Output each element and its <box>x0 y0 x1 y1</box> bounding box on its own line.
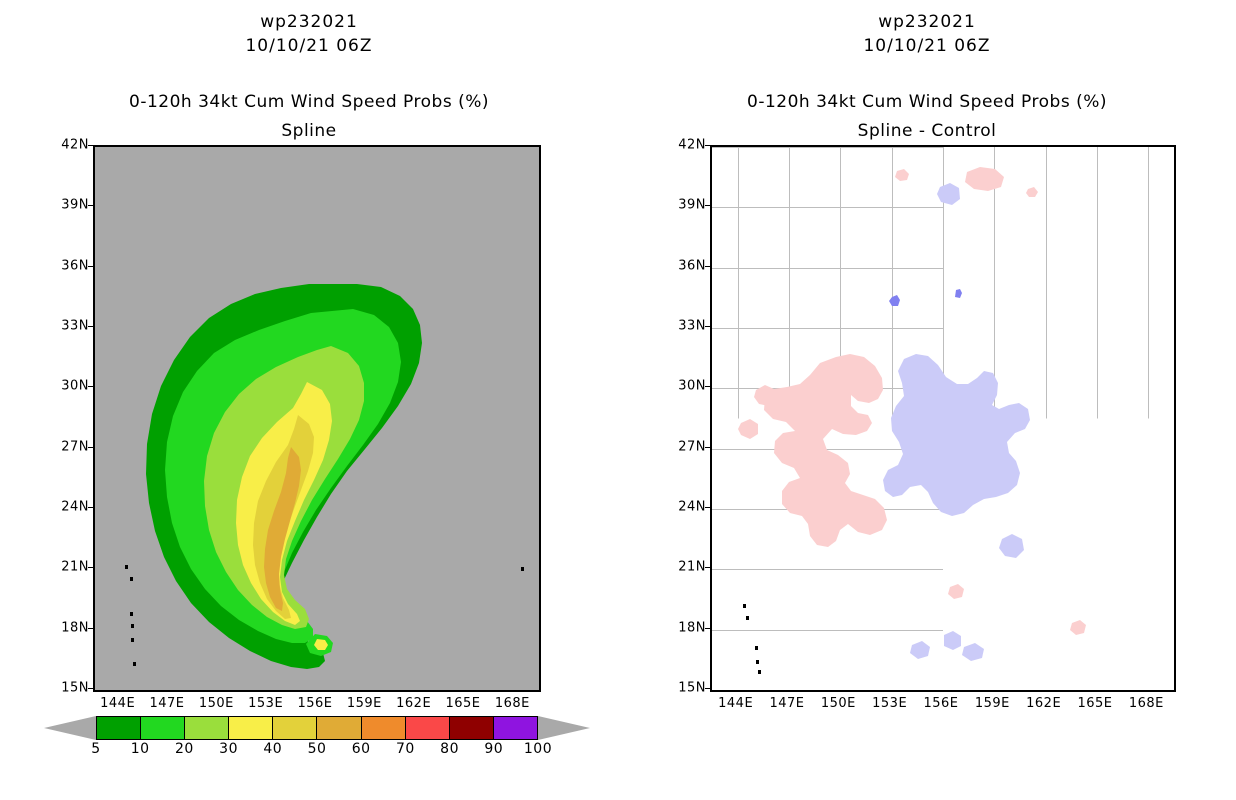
colorbar-tick-label: 40 <box>263 741 282 757</box>
x-tick-label: 168E <box>495 696 530 711</box>
subtitle-left: Spline <box>0 121 618 141</box>
y-tick-mark <box>705 205 710 206</box>
island-marker <box>743 604 746 608</box>
island-marker <box>131 624 134 628</box>
x-tick-label: 147E <box>769 696 804 711</box>
map-plot-spline[interactable] <box>93 145 541 692</box>
colorbar-tick-label: 20 <box>175 741 194 757</box>
main-title-right: 0-120h 34kt Cum Wind Speed Probs (%) <box>618 92 1236 112</box>
y-tick-label: 33N <box>672 319 706 334</box>
y-tick-mark <box>88 266 93 267</box>
colorbar-tick-label: 70 <box>396 741 415 757</box>
y-tick-mark <box>705 507 710 508</box>
x-tick-label: 165E <box>445 696 480 711</box>
colorbar-band <box>185 717 229 739</box>
island-marker <box>130 612 133 616</box>
colorbar-band <box>450 717 494 739</box>
y-tick-label: 18N <box>672 620 706 635</box>
colorbar-tick-label: 90 <box>484 741 503 757</box>
y-tick-label: 36N <box>55 258 89 273</box>
panel-spline: wp232021 10/10/21 06Z 0-120h 34kt Cum Wi… <box>0 0 618 800</box>
y-tick-mark <box>88 688 93 689</box>
main-title-left: 0-120h 34kt Cum Wind Speed Probs (%) <box>0 92 618 112</box>
map-plot-difference[interactable] <box>710 145 1176 692</box>
island-marker <box>746 616 749 620</box>
island-marker <box>756 660 759 664</box>
x-tick-label: 165E <box>1077 696 1112 711</box>
y-tick-label: 27N <box>672 439 706 454</box>
y-tick-label: 39N <box>672 198 706 213</box>
y-tick-mark <box>705 628 710 629</box>
y-tick-label: 42N <box>672 138 706 153</box>
datetime-left: 10/10/21 06Z <box>0 36 618 56</box>
y-tick-mark <box>705 567 710 568</box>
subtitle-right: Spline - Control <box>618 121 1236 141</box>
y-tick-label: 33N <box>55 319 89 334</box>
y-tick-label: 42N <box>55 138 89 153</box>
x-tick-label: 153E <box>248 696 283 711</box>
y-tick-mark <box>88 628 93 629</box>
colorbar-band <box>494 717 537 739</box>
colorbar-band <box>273 717 317 739</box>
y-tick-label: 21N <box>55 560 89 575</box>
storm-id-right: wp232021 <box>618 12 1236 32</box>
colorbar-tick-label: 50 <box>308 741 327 757</box>
x-tick-label: 159E <box>975 696 1010 711</box>
y-tick-label: 24N <box>672 500 706 515</box>
gridline-horizontal <box>95 690 539 691</box>
y-tick-mark <box>705 326 710 327</box>
x-tick-label: 147E <box>149 696 184 711</box>
x-tick-label: 156E <box>923 696 958 711</box>
y-tick-mark <box>88 567 93 568</box>
x-tick-label: 159E <box>347 696 382 711</box>
y-tick-mark <box>88 507 93 508</box>
y-tick-label: 15N <box>672 681 706 696</box>
y-tick-mark <box>88 386 93 387</box>
x-tick-label: 150E <box>199 696 234 711</box>
datetime-right: 10/10/21 06Z <box>618 36 1236 56</box>
x-tick-label: 153E <box>872 696 907 711</box>
colorbar-arrow-low-left <box>44 716 96 740</box>
y-tick-mark <box>705 266 710 267</box>
probability-contours <box>95 147 539 690</box>
y-tick-mark <box>88 145 93 146</box>
island-marker <box>133 662 136 666</box>
y-tick-mark <box>705 386 710 387</box>
colorbar-tick-label: 60 <box>352 741 371 757</box>
colorbar-band <box>229 717 273 739</box>
colorbar-probability[interactable]: 5102030405060708090100 <box>96 716 538 740</box>
y-tick-label: 39N <box>55 198 89 213</box>
x-tick-label: 150E <box>821 696 856 711</box>
colorbar-tick-label: 80 <box>440 741 459 757</box>
y-tick-mark <box>705 145 710 146</box>
island-marker <box>131 638 134 642</box>
y-tick-mark <box>705 688 710 689</box>
y-tick-mark <box>88 326 93 327</box>
y-tick-label: 24N <box>55 500 89 515</box>
y-tick-label: 18N <box>55 620 89 635</box>
x-tick-label: 168E <box>1129 696 1164 711</box>
colorbar-band <box>406 717 450 739</box>
colorbar-band <box>141 717 185 739</box>
x-tick-label: 162E <box>1026 696 1061 711</box>
x-tick-label: 162E <box>396 696 431 711</box>
y-tick-label: 30N <box>672 379 706 394</box>
y-tick-mark <box>88 205 93 206</box>
x-tick-label: 144E <box>718 696 753 711</box>
y-tick-label: 21N <box>672 560 706 575</box>
colorbar-band <box>97 717 141 739</box>
difference-contours <box>712 147 1174 690</box>
colorbar-band <box>317 717 361 739</box>
island-marker <box>758 670 761 674</box>
y-tick-label: 30N <box>55 379 89 394</box>
colorbar-band <box>362 717 406 739</box>
y-tick-label: 15N <box>55 681 89 696</box>
island-marker <box>521 567 524 571</box>
colorbar-tick-label: 10 <box>131 741 150 757</box>
colorbar-tick-label: 5 <box>91 741 100 757</box>
y-tick-label: 36N <box>672 258 706 273</box>
island-marker <box>125 565 128 569</box>
y-tick-label: 27N <box>55 439 89 454</box>
island-marker <box>130 577 133 581</box>
panel-spline-minus-control: wp232021 10/10/21 06Z 0-120h 34kt Cum Wi… <box>618 0 1236 800</box>
x-tick-label: 144E <box>100 696 135 711</box>
island-marker <box>755 646 758 650</box>
x-tick-label: 156E <box>297 696 332 711</box>
colorbar-tick-label: 100 <box>524 741 552 757</box>
gridline-horizontal <box>712 690 1174 691</box>
storm-id-left: wp232021 <box>0 12 618 32</box>
colorbar-arrow-high-left <box>538 716 590 740</box>
y-tick-mark <box>88 447 93 448</box>
y-tick-mark <box>705 447 710 448</box>
colorbar-tick-label: 30 <box>219 741 238 757</box>
